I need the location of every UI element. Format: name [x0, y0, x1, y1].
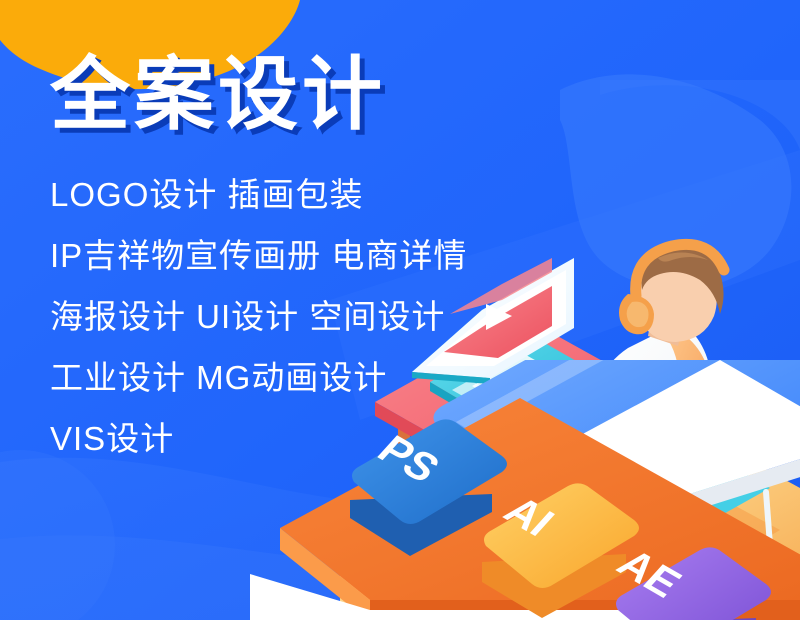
text-column: 全案设计 LOGO设计 插画包装 IP吉祥物宣传画册 电商详情 海报设计 UI设… [50, 52, 570, 469]
service-line: 工业设计 MG动画设计 [50, 347, 570, 408]
service-line: LOGO设计 插画包装 [50, 164, 570, 225]
promo-banner: 全案设计 LOGO设计 插画包装 IP吉祥物宣传画册 电商详情 海报设计 UI设… [0, 0, 800, 620]
service-line: 海报设计 UI设计 空间设计 [50, 286, 570, 347]
bg-blob-upper-right-2 [600, 80, 800, 150]
page-title: 全案设计 [50, 52, 570, 138]
bg-circle-left [0, 450, 115, 620]
service-line: VIS设计 [50, 408, 570, 469]
service-line: IP吉祥物宣传画册 电商详情 [50, 225, 570, 286]
service-list: LOGO设计 插画包装 IP吉祥物宣传画册 电商详情 海报设计 UI设计 空间设… [50, 164, 570, 469]
